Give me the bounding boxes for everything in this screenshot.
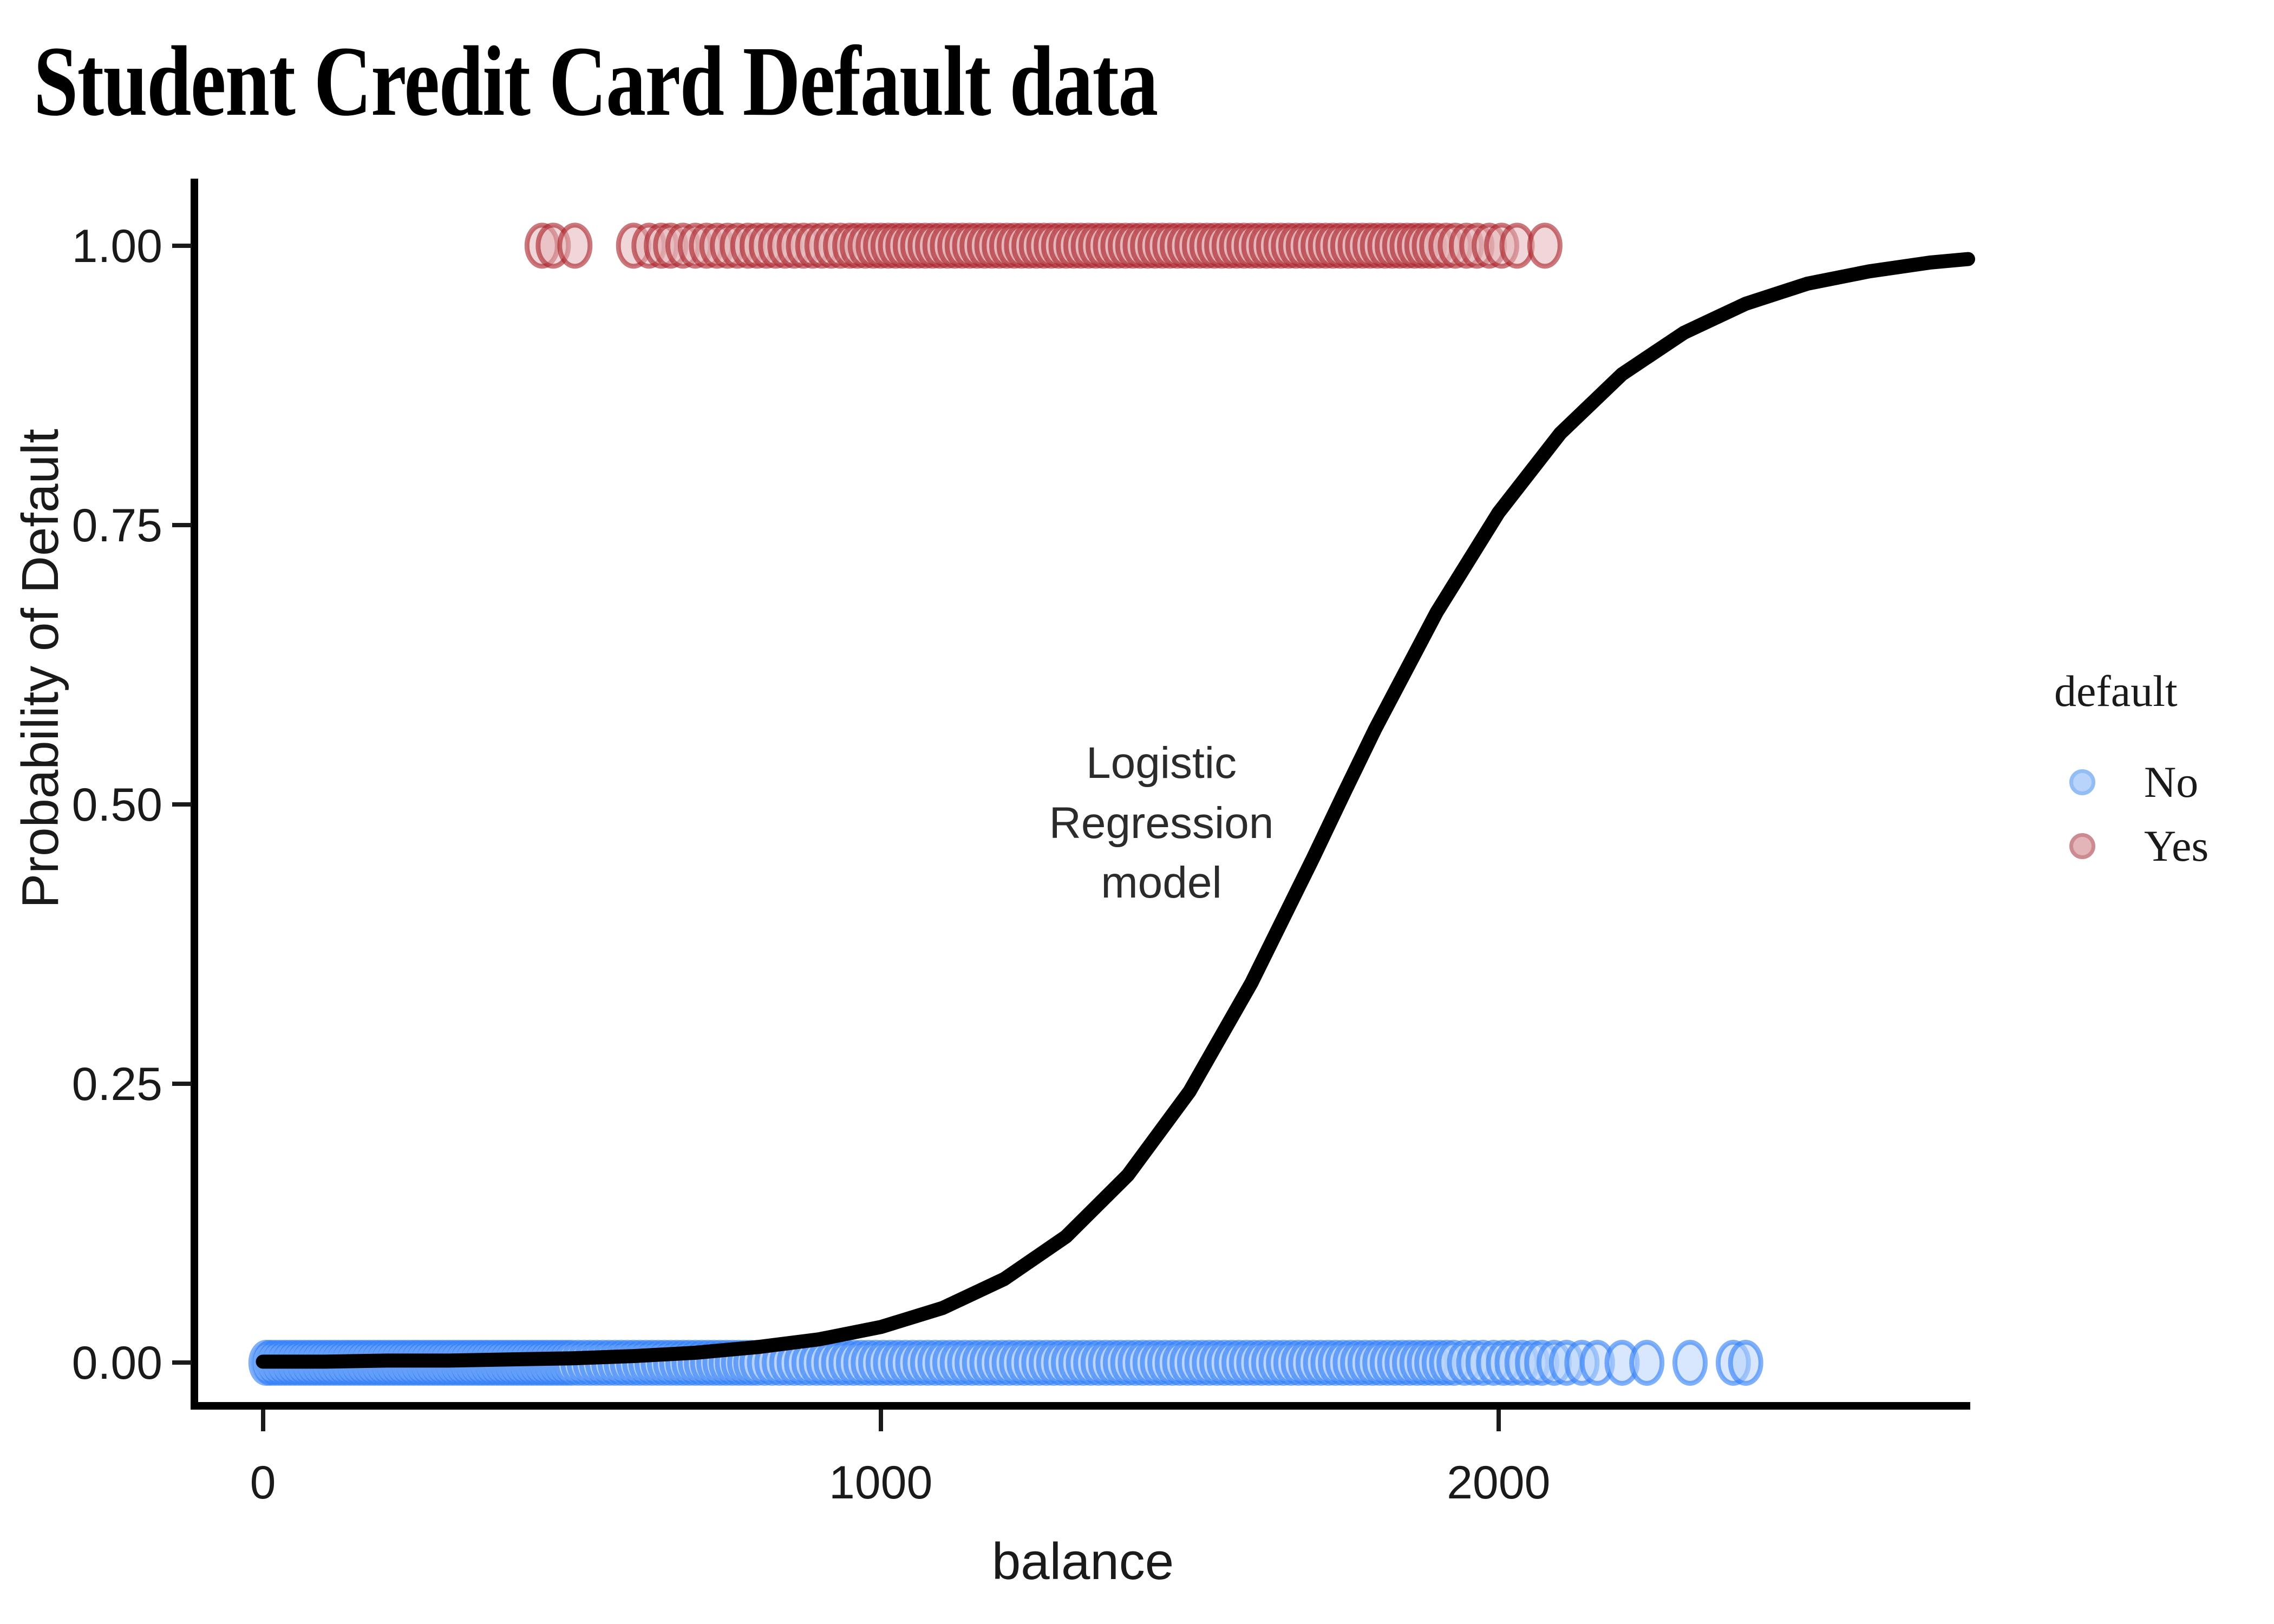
scatter-point-no	[1632, 1342, 1662, 1383]
y-axis-tick	[172, 1360, 192, 1365]
x-axis-tick	[261, 1410, 265, 1431]
y-axis-title-holder: Probability of Default	[11, 181, 76, 1156]
x-axis-tick-label: 2000	[1447, 1456, 1550, 1510]
page-title: Student Credit Card Default data	[34, 31, 1158, 132]
plot-annotation: Logistic Regression model	[972, 734, 1351, 913]
y-axis-tick	[172, 523, 192, 527]
legend-key-no	[2052, 769, 2113, 795]
annotation-line-1: Logistic Regression	[972, 734, 1351, 853]
x-axis-title: balance	[0, 1532, 2166, 1592]
scatter-point-yes	[1530, 225, 1560, 266]
y-axis-tick	[172, 802, 192, 807]
x-axis-tick	[879, 1410, 883, 1431]
legend-key-yes	[2052, 833, 2113, 859]
legend-label-yes: Yes	[2144, 821, 2208, 872]
y-axis-line	[191, 179, 198, 1410]
y-axis-title: Probability of Default	[11, 181, 70, 1156]
annotation-line-2: model	[972, 853, 1351, 913]
legend-title: default	[2052, 666, 2263, 717]
x-axis-tick-label: 1000	[829, 1456, 932, 1510]
y-axis-tick-label: 0.00	[0, 1337, 162, 1390]
legend: default No Yes	[2052, 666, 2263, 878]
legend-item-yes[interactable]: Yes	[2052, 814, 2263, 878]
legend-label-no: No	[2144, 757, 2198, 808]
x-axis-tick	[1497, 1410, 1501, 1431]
x-axis-line	[191, 1402, 1970, 1410]
legend-item-no[interactable]: No	[2052, 750, 2263, 814]
y-axis-tick	[172, 244, 192, 248]
circle-icon	[2069, 769, 2095, 795]
x-axis-tick-label: 0	[250, 1456, 276, 1510]
scatter-series-yes	[527, 225, 1560, 266]
scatter-point-no	[1675, 1342, 1705, 1383]
chart-canvas: Student Credit Card Default data Logisti…	[0, 0, 2274, 1624]
y-axis-tick	[172, 1082, 192, 1086]
circle-icon	[2069, 833, 2095, 859]
scatter-point-no	[1730, 1342, 1761, 1383]
scatter-point-yes	[560, 225, 590, 266]
